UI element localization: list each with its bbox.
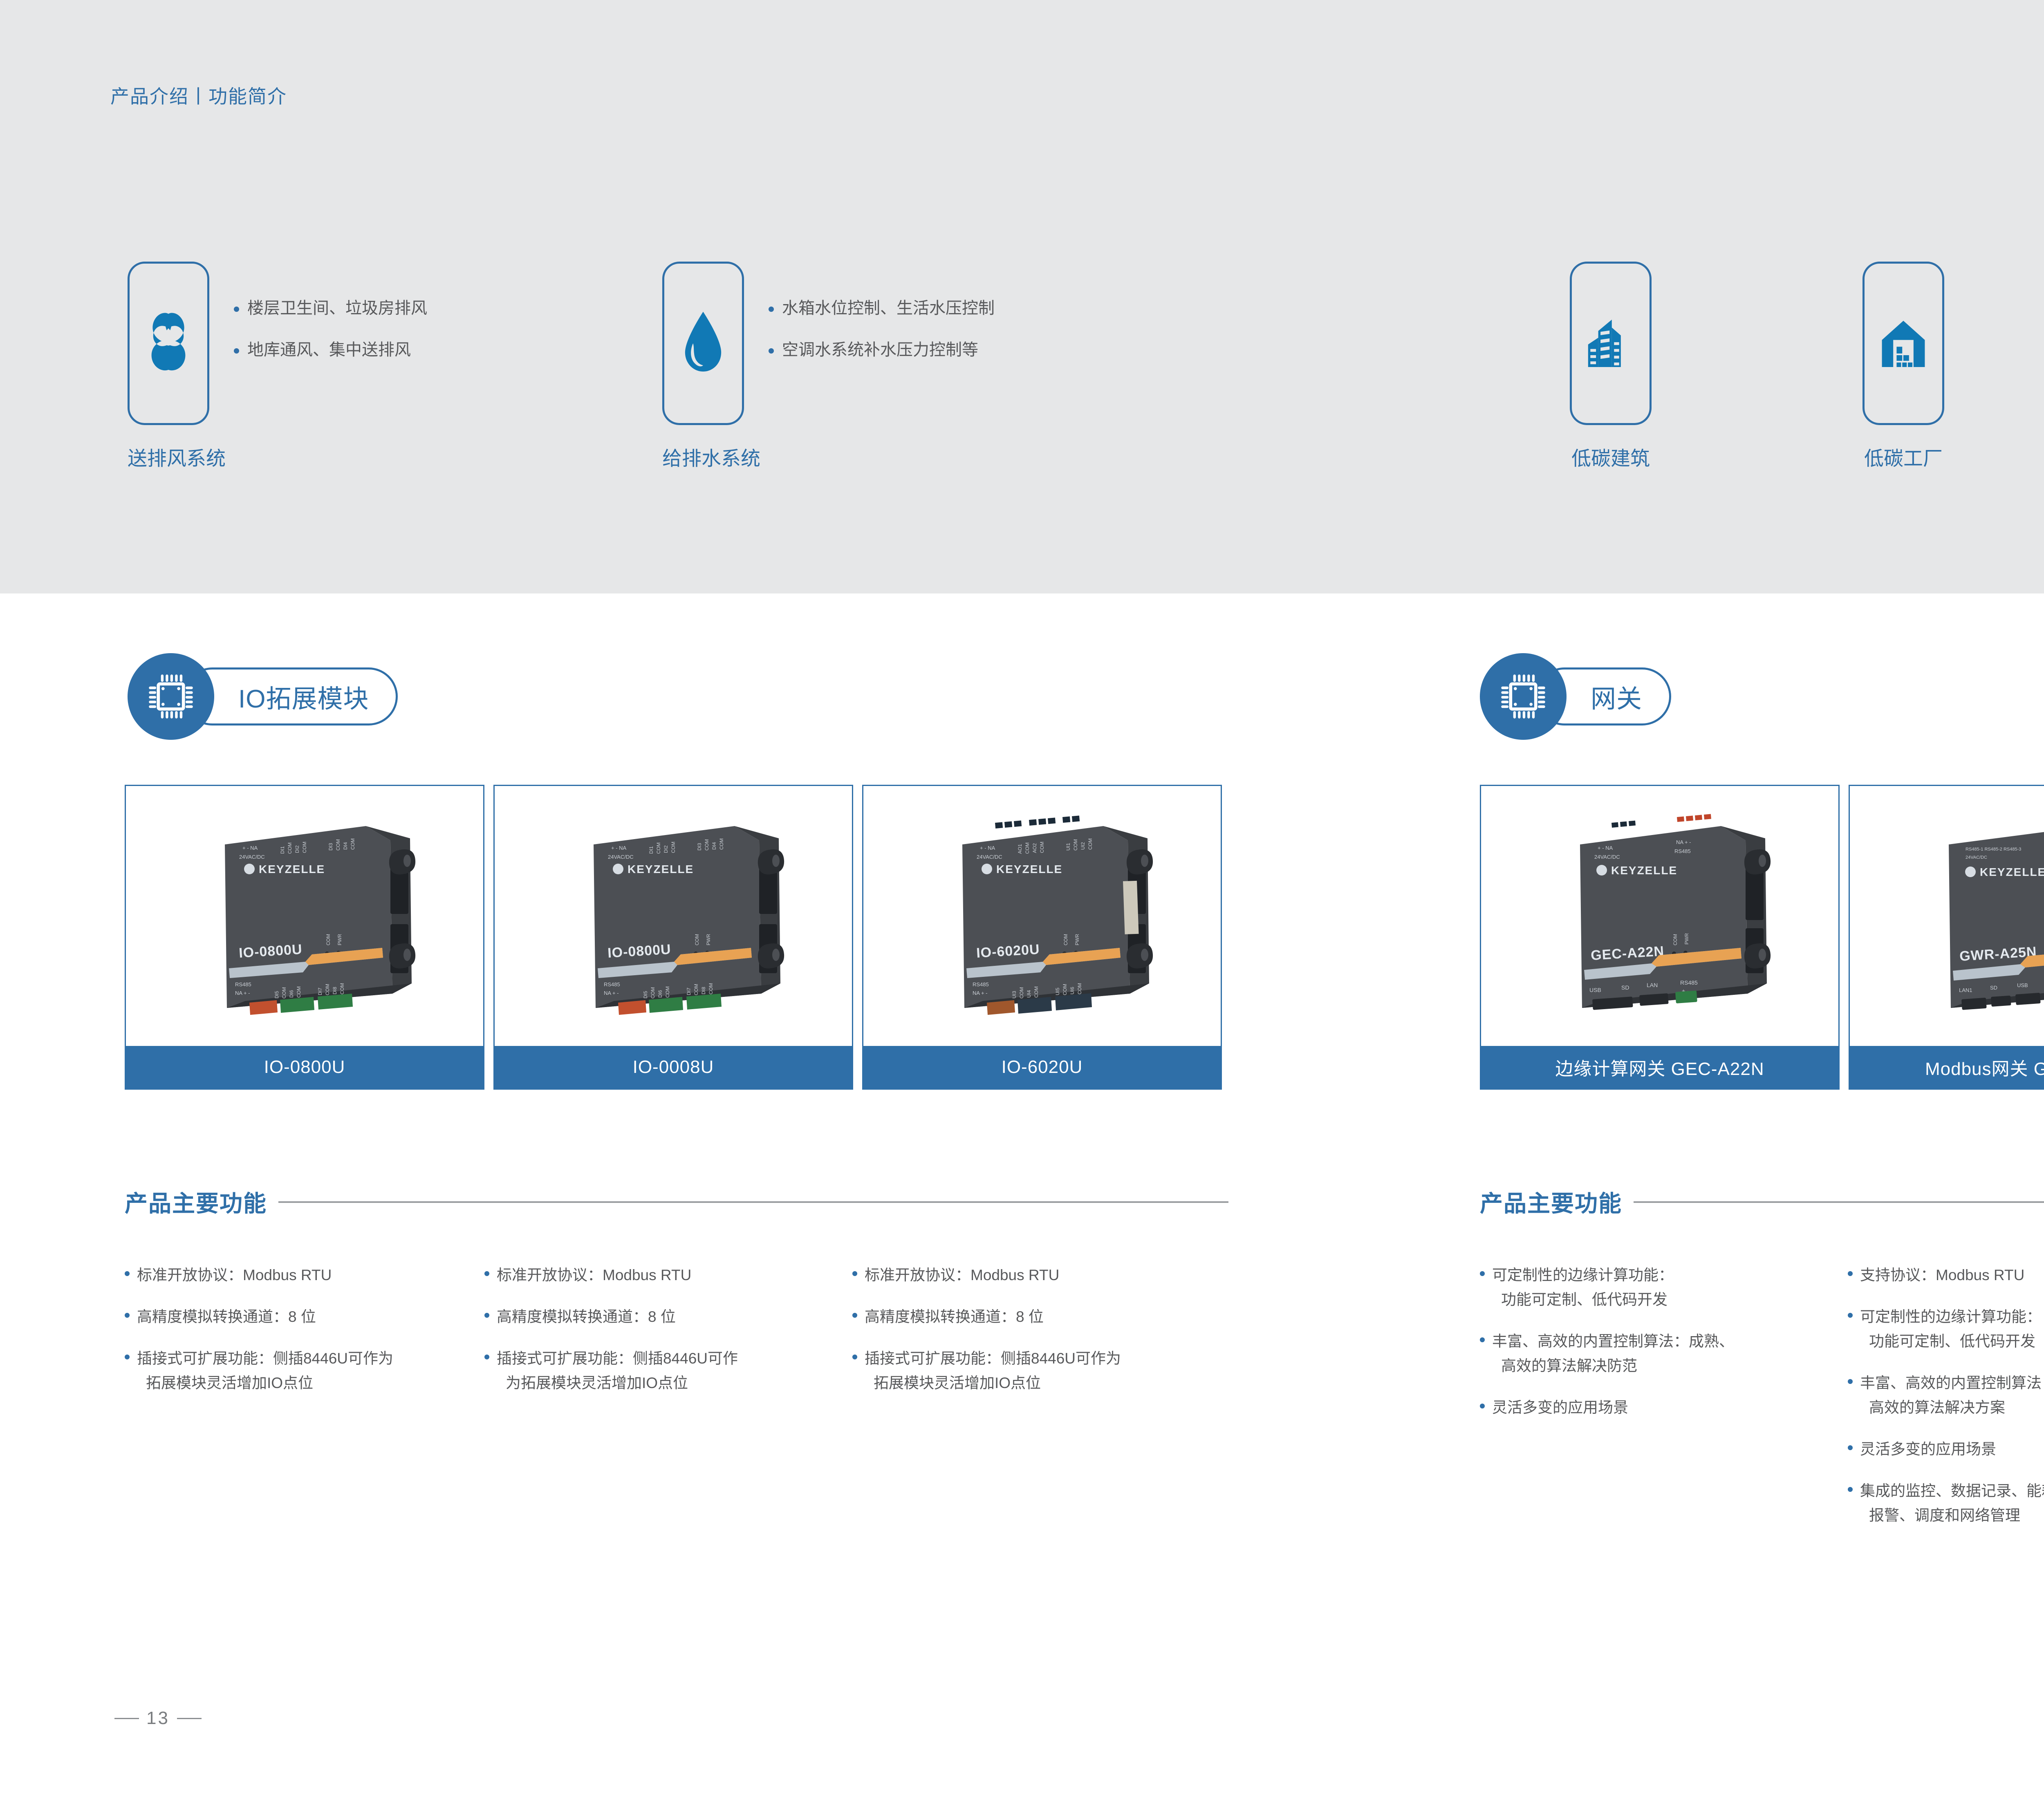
svg-text:NA + -: NA + - [604, 990, 619, 996]
feature-line: 可定制性的边缘计算功能： [1492, 1267, 1674, 1283]
bullet-dot-icon [1480, 1404, 1485, 1408]
svg-text:COM: COM [670, 842, 676, 853]
svg-text:COM: COM [704, 839, 710, 851]
svg-text:COM: COM [1024, 842, 1030, 854]
bullet-dot-icon [1480, 1337, 1485, 1342]
svg-text:COM: COM [665, 986, 670, 998]
feature-line: 高效的算法解决防范 [1492, 1354, 1734, 1378]
svg-text:DI6: DI6 [657, 990, 663, 998]
feature-line: 功能可定制、低代码开发 [1860, 1329, 2042, 1354]
feature-line: 标准开放协议：Modbus RTU [865, 1267, 1059, 1283]
bullet-dot-icon [484, 1271, 489, 1276]
feature-line: 高精度模拟转换通道：8 位 [865, 1308, 1044, 1325]
svg-text:DI4: DI4 [343, 842, 348, 850]
application-label-water: 给排水系统 [662, 442, 834, 471]
features-column: 标准开放协议：Modbus RTU 高精度模拟转换通道：8 位 插接式可扩展功能… [852, 1263, 1212, 1413]
svg-text:NA + -: NA + - [235, 990, 250, 996]
svg-text:UI6: UI6 [1069, 987, 1075, 994]
brochure-spread: 产品介绍丨功能简介 产品介绍丨功能简介 楼层卫生间、垃圾房排风 [0, 0, 2044, 1798]
svg-text:COM: COM [350, 838, 356, 850]
product-caption: IO-0008U [495, 1046, 852, 1088]
product-photo: + - NA 24VAC/DC NA + - RS485 KEYZELLE GE… [1481, 786, 1838, 1046]
bullet-dot-icon [769, 348, 774, 354]
bullet-dot-icon [1848, 1271, 1853, 1276]
features-columns-io: 标准开放协议：Modbus RTU 高精度模拟转换通道：8 位 插接式可扩展功能… [125, 1263, 1212, 1413]
scenario-label-factory: 低碳工厂 [1862, 442, 1944, 471]
svg-text:PWR: PWR [1074, 934, 1080, 945]
product-photo: + - NA 24VAC/DC DI1 COM DI2 COM DI3 COM … [495, 786, 852, 1046]
bullet-dot-icon [1480, 1271, 1485, 1276]
feature-line: 标准开放协议：Modbus RTU [137, 1267, 332, 1283]
section-badge-pill-io-modules: IO拓展模块 [183, 667, 398, 725]
svg-text:COM: COM [296, 986, 302, 998]
bullet-dot-icon [234, 348, 239, 354]
svg-text:RS485: RS485 [973, 981, 989, 987]
svg-text:COM: COM [335, 839, 341, 851]
svg-text:LAN1: LAN1 [1959, 987, 1972, 993]
bullet-text: 楼层卫生间、垃圾房排风 [247, 299, 427, 317]
feature-line: 高效的算法解决方案 [1860, 1395, 2044, 1420]
feature-line: 高精度模拟转换通道：8 位 [497, 1308, 676, 1325]
product-caption: Modbus网关 GWR-A25N [1850, 1046, 2044, 1088]
product-caption: IO-0800U [126, 1046, 483, 1088]
svg-text:DI1: DI1 [648, 846, 654, 854]
bullet-dot-icon [125, 1271, 130, 1276]
feature-line: 支持协议：Modbus RTU [1860, 1267, 2024, 1283]
product-card[interactable]: + - NA 24VAC/DC DI1 COM DI2 COM DI3 COM … [493, 785, 853, 1090]
list-item: 丰富、高效的内置控制算法：成熟、高效的算法解决方案 [1848, 1371, 2044, 1420]
list-item: 楼层卫生间、垃圾房排风 [234, 299, 427, 317]
footer-rule-left [114, 1718, 139, 1719]
svg-text:24VAC/DC: 24VAC/DC [239, 854, 265, 860]
section-badge-label: IO拓展模块 [238, 678, 369, 715]
bullet-dot-icon [852, 1313, 857, 1318]
bullet-dot-icon [1848, 1313, 1853, 1318]
scenario-block-building: 低碳建筑 [1570, 262, 1652, 471]
bullet-dot-icon [1848, 1445, 1853, 1450]
svg-text:DI7: DI7 [317, 987, 323, 995]
features-columns-gateway: 可定制性的边缘计算功能：功能可定制、低代码开发 丰富、高效的内置控制算法：成熟、… [1480, 1263, 2044, 1545]
svg-text:COM: COM [1062, 984, 1068, 995]
application-block-ventilation: 楼层卫生间、垃圾房排风 地库通风、集中送排风 送排风系统 [128, 262, 427, 425]
office-building-icon-card [1570, 262, 1652, 425]
product-card[interactable]: RS485-1 RS485-2 RS485-3 24VAC/DC KEYZELL… [1849, 785, 2044, 1090]
svg-text:COM: COM [719, 838, 724, 850]
feature-line: 可定制性的边缘计算功能： [1860, 1308, 2042, 1325]
list-item: 灵活多变的应用场景 [1480, 1395, 1848, 1420]
product-photo: + - NA 24VAC/DC AO1 COM AO2 COM UI1 COM … [863, 786, 1221, 1046]
svg-text:NA + -: NA + - [1676, 839, 1691, 845]
svg-text:24VAC/DC: 24VAC/DC [608, 854, 634, 860]
bullet-dot-icon [484, 1313, 489, 1318]
svg-text:COM: COM [650, 987, 656, 999]
fan-icon-card [128, 262, 209, 425]
svg-text:DI5: DI5 [274, 991, 280, 999]
list-item: 高精度模拟转换通道：8 位 [484, 1305, 852, 1329]
svg-text:COM: COM [287, 842, 293, 854]
svg-text:USB: USB [2017, 982, 2028, 988]
svg-text:UI4: UI4 [1026, 990, 1032, 998]
svg-text:+ - NA: + - NA [611, 845, 627, 851]
feature-line: 丰富、高效的内置控制算法：成熟、 [1860, 1375, 2044, 1391]
chip-icon [145, 670, 197, 723]
chip-icon [1497, 670, 1549, 723]
svg-text:NA + -: NA + - [973, 990, 988, 996]
ventilation-bullet-list: 楼层卫生间、垃圾房排风 地库通风、集中送排风 [234, 262, 427, 383]
chip-icon-circle [1480, 653, 1567, 740]
list-item: 插接式可扩展功能：侧插8446U可作为拓展模块灵活增加IO点位 [484, 1346, 852, 1395]
svg-text:DI5: DI5 [643, 991, 648, 999]
svg-text:KEYZELLE: KEYZELLE [996, 863, 1062, 875]
factory-icon-card [1862, 262, 1944, 425]
feature-line: 标准开放协议：Modbus RTU [497, 1267, 691, 1283]
feature-line: 功能可定制、低代码开发 [1492, 1287, 1674, 1312]
features-column: 标准开放协议：Modbus RTU 高精度模拟转换通道：8 位 插接式可扩展功能… [125, 1263, 484, 1413]
svg-text:SD: SD [1990, 985, 1997, 991]
list-item: 空调水系统补水压力控制等 [769, 341, 995, 359]
footer-rule-right [177, 1718, 202, 1719]
factory-icon [1875, 307, 1932, 380]
svg-text:+ - NA: + - NA [242, 845, 258, 851]
svg-text:24VAC/DC: 24VAC/DC [1594, 854, 1620, 860]
svg-text:KEYZELLE: KEYZELLE [1980, 866, 2044, 878]
section-badge-gateway: 网关 [1480, 653, 1671, 740]
svg-text:COM: COM [1033, 986, 1039, 998]
chip-icon-circle [128, 653, 214, 740]
svg-text:LAN: LAN [1647, 982, 1658, 988]
svg-text:KEYZELLE: KEYZELLE [1611, 864, 1677, 877]
svg-text:RS485: RS485 [1674, 848, 1691, 854]
feature-line: 灵活多变的应用场景 [1492, 1399, 1628, 1416]
list-item: 标准开放协议：Modbus RTU [125, 1263, 484, 1287]
svg-text:AO1: AO1 [1017, 844, 1023, 854]
product-card-row-io: + - NA 24VAC/DC DI1 COM DI2 COM DI3 COM … [125, 785, 1222, 1090]
bullet-text: 水箱水位控制、生活水压控制 [782, 299, 995, 317]
features-heading-gateway: 产品主要功能 [1480, 1185, 2044, 1218]
section-badge-label: 网关 [1591, 678, 1642, 715]
svg-text:UI2: UI2 [1080, 842, 1086, 850]
bullet-dot-icon [484, 1355, 489, 1359]
svg-text:COM: COM [708, 983, 714, 994]
svg-text:KEYZELLE: KEYZELLE [628, 863, 694, 875]
bullet-dot-icon [1848, 1487, 1853, 1492]
svg-text:COM: COM [302, 842, 307, 853]
feature-line: 拓展模块灵活增加IO点位 [865, 1371, 1121, 1395]
svg-text:COM: COM [656, 842, 661, 854]
svg-text:DI2: DI2 [663, 845, 669, 853]
office-building-icon [1582, 307, 1639, 380]
feature-line: 高精度模拟转换通道：8 位 [137, 1308, 316, 1325]
feature-line: 拓展模块灵活增加IO点位 [137, 1371, 393, 1395]
svg-text:DI3: DI3 [328, 843, 334, 851]
svg-text:DI6: DI6 [289, 990, 294, 998]
features-column: 支持协议：Modbus RTU 可定制性的边缘计算功能：功能可定制、低代码开发 … [1848, 1263, 2044, 1545]
list-item: 地库通风、集中送排风 [234, 341, 427, 359]
feature-line: 插接式可扩展功能：侧插8446U可作为 [137, 1350, 393, 1367]
bullet-dot-icon [234, 307, 239, 312]
heading-rule [1634, 1201, 2044, 1203]
svg-text:COM: COM [325, 934, 331, 945]
application-label-ventilation: 送排风系统 [128, 442, 299, 471]
list-item: 可定制性的边缘计算功能：功能可定制、低代码开发 [1480, 1263, 1848, 1312]
svg-text:COM: COM [325, 984, 330, 995]
svg-text:USB: USB [1589, 987, 1601, 993]
bullet-text: 地库通风、集中送排风 [247, 341, 411, 359]
svg-text:DI8: DI8 [332, 987, 338, 994]
svg-text:DI2: DI2 [294, 845, 300, 853]
list-item: 支持协议：Modbus RTU [1848, 1263, 2044, 1287]
svg-text:UI1: UI1 [1065, 843, 1071, 851]
bullet-dot-icon [852, 1355, 857, 1359]
feature-line: 为拓展模块灵活增加IO点位 [497, 1371, 738, 1395]
product-caption: IO-6020U [863, 1046, 1221, 1088]
svg-text:COM: COM [339, 983, 345, 994]
svg-text:24VAC/DC: 24VAC/DC [977, 854, 1002, 860]
svg-text:COM: COM [1077, 983, 1083, 994]
feature-line: 插接式可扩展功能：侧插8446U可作 [497, 1350, 738, 1367]
svg-text:RS485: RS485 [604, 981, 620, 987]
application-block-water: 水箱水位控制、生活水压控制 空调水系统补水压力控制等 给排水系统 [662, 262, 995, 425]
water-drop-icon [675, 307, 731, 380]
svg-text:COM: COM [1039, 842, 1045, 853]
svg-text:DI3: DI3 [697, 843, 702, 851]
section-badge-io-modules: IO拓展模块 [128, 653, 398, 740]
svg-text:DI4: DI4 [711, 842, 717, 850]
list-item: 可定制性的边缘计算功能：功能可定制、低代码开发 [1848, 1305, 2044, 1354]
heading-rule [278, 1201, 1228, 1203]
page-footer-left: 13 [114, 1708, 202, 1729]
list-item: 插接式可扩展功能：侧插8446U可作为拓展模块灵活增加IO点位 [852, 1346, 1212, 1395]
water-bullet-list: 水箱水位控制、生活水压控制 空调水系统补水压力控制等 [769, 262, 995, 383]
features-column: 标准开放协议：Modbus RTU 高精度模拟转换通道：8 位 插接式可扩展功能… [484, 1263, 852, 1413]
product-caption: 边缘计算网关 GEC-A22N [1481, 1046, 1838, 1088]
list-item: 高精度模拟转换通道：8 位 [852, 1305, 1212, 1329]
list-item: 标准开放协议：Modbus RTU [852, 1263, 1212, 1287]
features-column: 可定制性的边缘计算功能：功能可定制、低代码开发 丰富、高效的内置控制算法：成熟、… [1480, 1263, 1848, 1545]
svg-text:PWR: PWR [337, 934, 343, 945]
svg-text:SD: SD [1621, 984, 1629, 991]
water-drop-icon-card [662, 262, 744, 425]
list-item: 插接式可扩展功能：侧插8446U可作为拓展模块灵活增加IO点位 [125, 1346, 484, 1395]
features-title: 产品主要功能 [1480, 1185, 1622, 1218]
bullet-dot-icon [125, 1355, 130, 1359]
feature-line: 插接式可扩展功能：侧插8446U可作为 [865, 1350, 1121, 1367]
svg-text:DI7: DI7 [686, 987, 692, 995]
product-card[interactable]: + - NA 24VAC/DC DI1 COM DI2 COM DI3 COM … [125, 785, 484, 1090]
svg-text:PWR: PWR [706, 934, 711, 945]
bullet-dot-icon [852, 1271, 857, 1276]
bullet-dot-icon [769, 307, 774, 312]
svg-text:+ - NA: + - NA [980, 845, 995, 851]
svg-text:COM: COM [1087, 838, 1093, 850]
feature-line: 集成的监控、数据记录、能耗计量、 [1860, 1482, 2044, 1499]
svg-text:DI8: DI8 [701, 987, 706, 994]
svg-text:KEYZELLE: KEYZELLE [259, 863, 325, 875]
page-number: 13 [146, 1708, 170, 1729]
svg-text:DI1: DI1 [280, 846, 285, 854]
svg-text:COM: COM [1019, 987, 1024, 999]
product-card[interactable]: + - NA 24VAC/DC AO1 COM AO2 COM UI1 COM … [862, 785, 1222, 1090]
list-item: 高精度模拟转换通道：8 位 [125, 1305, 484, 1329]
svg-text:AO2: AO2 [1032, 843, 1038, 853]
svg-text:COM: COM [1073, 839, 1078, 851]
features-heading-io: 产品主要功能 [125, 1185, 1228, 1218]
svg-text:UI3: UI3 [1011, 991, 1017, 999]
scenario-label-building: 低碳建筑 [1570, 442, 1652, 471]
product-card[interactable]: + - NA 24VAC/DC NA + - RS485 KEYZELLE GE… [1480, 785, 1840, 1090]
list-item: 水箱水位控制、生活水压控制 [769, 299, 995, 317]
svg-text:RS485: RS485 [1680, 979, 1698, 986]
svg-text:COM: COM [281, 987, 287, 999]
features-title: 产品主要功能 [125, 1185, 267, 1218]
svg-text:COM: COM [694, 934, 700, 945]
list-item: 标准开放协议：Modbus RTU [484, 1263, 852, 1287]
svg-text:UI5: UI5 [1055, 987, 1060, 995]
bullet-dot-icon [125, 1313, 130, 1318]
svg-text:RS485: RS485 [235, 981, 251, 987]
running-head-left: 产品介绍丨功能简介 [110, 82, 287, 109]
scenario-block-factory: 低碳工厂 [1862, 262, 1944, 471]
product-card-row-gateway: + - NA 24VAC/DC NA + - RS485 KEYZELLE GE… [1480, 785, 2044, 1090]
bullet-dot-icon [1848, 1379, 1853, 1384]
feature-line: 灵活多变的应用场景 [1860, 1441, 1996, 1458]
bullet-text: 空调水系统补水压力控制等 [782, 341, 978, 359]
svg-text:COM: COM [1672, 934, 1678, 945]
product-photo: RS485-1 RS485-2 RS485-3 24VAC/DC KEYZELL… [1850, 786, 2044, 1046]
svg-text:COM: COM [1063, 934, 1069, 945]
list-item: 集成的监控、数据记录、能耗计量、报警、调度和网络管理 [1848, 1479, 2044, 1528]
list-item: 丰富、高效的内置控制算法：成熟、高效的算法解决防范 [1480, 1329, 1848, 1378]
svg-text:+ - NA: + - NA [1598, 845, 1613, 851]
feature-line: 报警、调度和网络管理 [1860, 1503, 2044, 1528]
feature-line: 丰富、高效的内置控制算法：成熟、 [1492, 1333, 1734, 1350]
product-photo: + - NA 24VAC/DC DI1 COM DI2 COM DI3 COM … [126, 786, 483, 1046]
fan-icon [140, 307, 197, 380]
svg-text:24VAC/DC: 24VAC/DC [1966, 855, 1987, 860]
list-item: 灵活多变的应用场景 [1848, 1437, 2044, 1462]
svg-text:PWR: PWR [1684, 933, 1690, 945]
svg-text:COM: COM [693, 984, 699, 995]
svg-text:RS485-1 RS485-2 RS485-3: RS485-1 RS485-2 RS485-3 [1966, 847, 2021, 852]
